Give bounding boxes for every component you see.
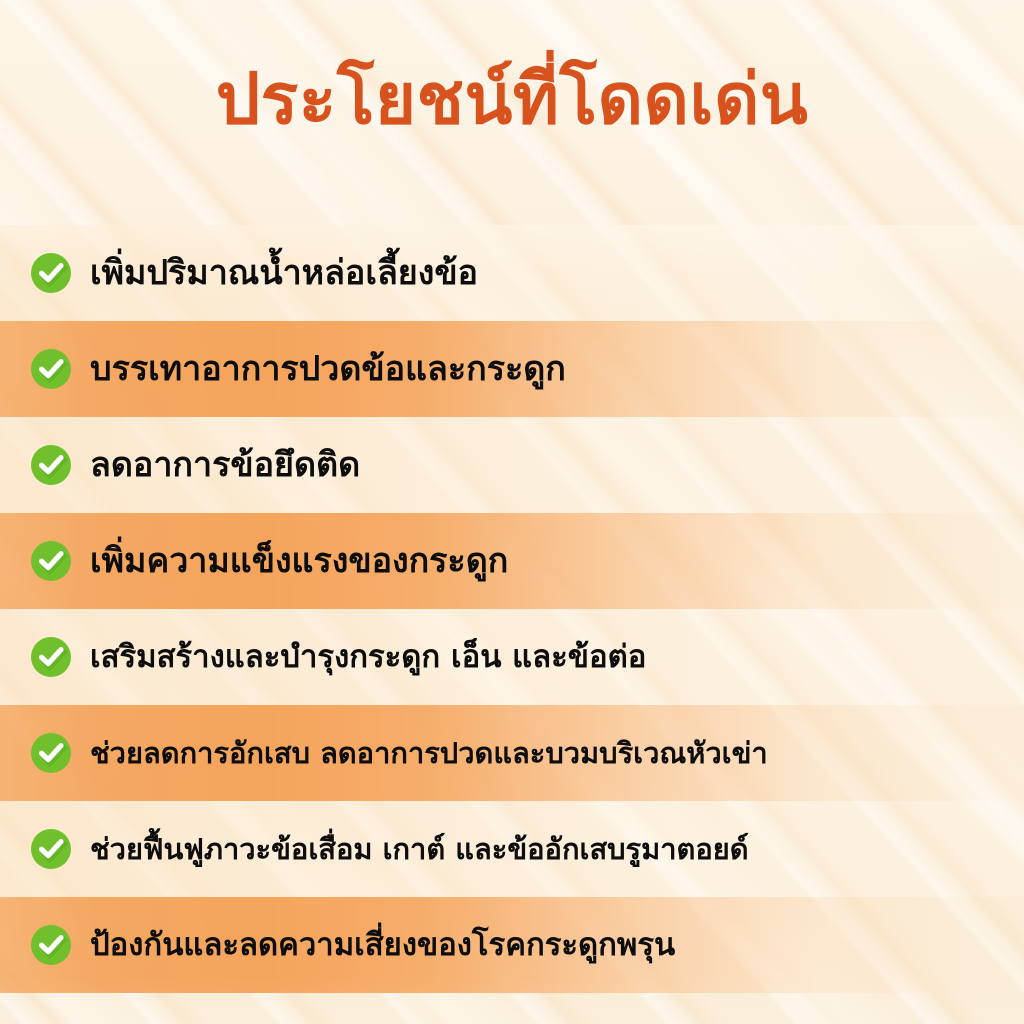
page-title-container: ประโยชน์ที่โดดเด่น (0, 62, 1024, 136)
list-item-label: ลดอาการข้อยึดติด (90, 446, 360, 484)
list-item-label: เสริมสร้างและบำรุงกระดูก เอ็น และข้อต่อ (90, 640, 646, 675)
check-circle-icon (30, 924, 72, 966)
benefits-poster: ประโยชน์ที่โดดเด่น เพิ่มปริมาณน้ำหล่อเลี… (0, 0, 1024, 1024)
benefits-list: เพิ่มปริมาณน้ำหล่อเลี้ยงข้อ บรรเทาอาการป… (0, 225, 1024, 1024)
list-item-label: ช่วยฟื้นฟูภาวะข้อเสื่อม เกาต์ และข้ออักเ… (90, 833, 749, 865)
list-item: เพิ่มปริมาณน้ำหล่อเลี้ยงข้อ (30, 225, 1008, 321)
check-circle-icon (30, 252, 72, 294)
list-item: ป้องกันและลดความเสี่ยงของโรคกระดูกพรุน (30, 897, 1008, 993)
list-item-label: เพิ่มปริมาณน้ำหล่อเลี้ยงข้อ (90, 254, 478, 292)
list-item: บรรเทาอาการปวดข้อและกระดูก (30, 321, 1008, 417)
list-item: ช่วยฟื้นฟูภาวะข้อเสื่อม เกาต์ และข้ออักเ… (30, 801, 1008, 897)
list-item-label: บรรเทาอาการปวดข้อและกระดูก (90, 350, 566, 388)
check-circle-icon (30, 540, 72, 582)
check-circle-icon (30, 348, 72, 390)
list-item: ช่วยลดการอักเสบ ลดอาการปวดและบวมบริเวณหั… (30, 705, 1008, 801)
list-item: เสริมสร้างและบำรุงกระดูก เอ็น และข้อต่อ (30, 609, 1008, 705)
list-item-label: เพิ่มความแข็งแรงของกระดูก (90, 542, 508, 580)
check-circle-icon (30, 732, 72, 774)
check-circle-icon (30, 636, 72, 678)
list-item-label: ช่วยลดการอักเสบ ลดอาการปวดและบวมบริเวณหั… (90, 737, 768, 769)
check-circle-icon (30, 444, 72, 486)
list-item: เพิ่มความแข็งแรงของกระดูก (30, 513, 1008, 609)
list-item-label: ป้องกันและลดความเสี่ยงของโรคกระดูกพรุน (90, 928, 675, 963)
list-item: ลดอาการข้อยึดติด (30, 417, 1008, 513)
page-title: ประโยชน์ที่โดดเด่น (216, 62, 809, 136)
check-circle-icon (30, 828, 72, 870)
